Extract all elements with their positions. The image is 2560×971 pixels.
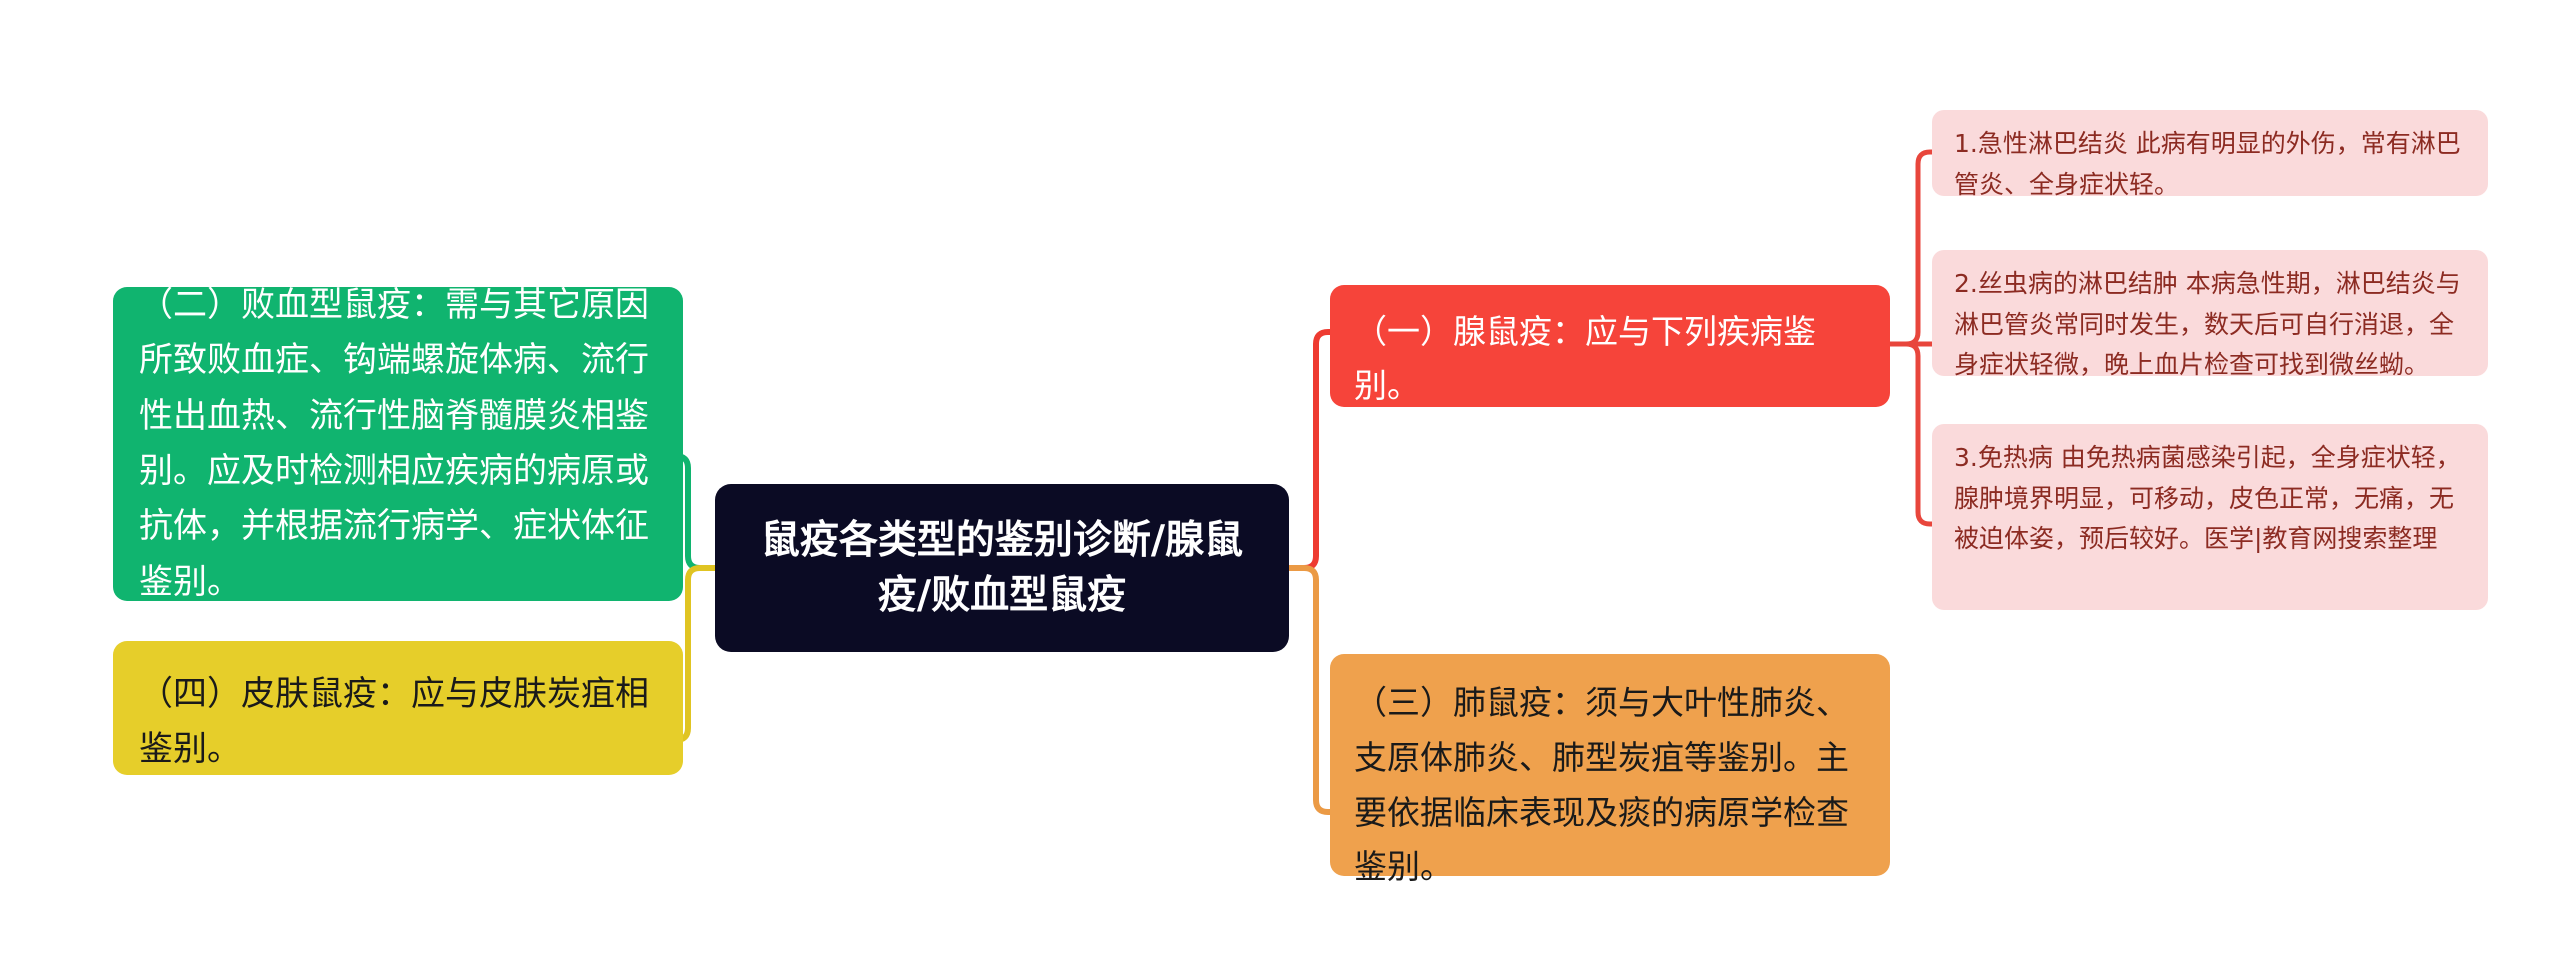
root-node-label: 鼠疫各类型的鉴别诊断/腺鼠疫/败血型鼠疫 bbox=[741, 513, 1263, 624]
root-node[interactable]: 鼠疫各类型的鉴别诊断/腺鼠疫/败血型鼠疫 bbox=[715, 484, 1289, 652]
mindmap-canvas: （二）败血型鼠疫：需与其它原因所致败血症、钩端螺旋体病、流行性出血热、流行性脑脊… bbox=[0, 0, 2560, 971]
branch-node-sepsis[interactable]: （二）败血型鼠疫：需与其它原因所致败血症、钩端螺旋体病、流行性出血热、流行性脑脊… bbox=[113, 287, 683, 601]
branch-node-bubonic[interactable]: （一）腺鼠疫：应与下列疾病鉴别。 bbox=[1330, 285, 1890, 407]
leaf-label-tularemia: 3.免热病 由免热病菌感染引起，全身症状轻，腺肿境界明显，可移动，皮色正常，无痛… bbox=[1954, 438, 2466, 560]
leaf-node-tularemia[interactable]: 3.免热病 由免热病菌感染引起，全身症状轻，腺肿境界明显，可移动，皮色正常，无痛… bbox=[1932, 424, 2488, 610]
leaf-node-lymphadenitis[interactable]: 1.急性淋巴结炎 此病有明显的外伤，常有淋巴管炎、全身症状轻。 bbox=[1932, 110, 2488, 196]
branch-node-pneumonic[interactable]: （三）肺鼠疫：须与大叶性肺炎、支原体肺炎、肺型炭疽等鉴别。主要依据临床表现及痰的… bbox=[1330, 654, 1890, 876]
branch-node-skin[interactable]: （四）皮肤鼠疫：应与皮肤炭疽相鉴别。 bbox=[113, 641, 683, 775]
leaf-label-filariasis: 2.丝虫病的淋巴结肿 本病急性期，淋巴结炎与淋巴管炎常同时发生，数天后可自行消退… bbox=[1954, 264, 2466, 386]
leaf-node-filariasis[interactable]: 2.丝虫病的淋巴结肿 本病急性期，淋巴结炎与淋巴管炎常同时发生，数天后可自行消退… bbox=[1932, 250, 2488, 376]
branch-label-sepsis: （二）败血型鼠疫：需与其它原因所致败血症、钩端螺旋体病、流行性出血热、流行性脑脊… bbox=[139, 278, 657, 610]
leaf-label-lymphadenitis: 1.急性淋巴结炎 此病有明显的外伤，常有淋巴管炎、全身症状轻。 bbox=[1954, 124, 2466, 205]
branch-label-pneumonic: （三）肺鼠疫：须与大叶性肺炎、支原体肺炎、肺型炭疽等鉴别。主要依据临床表现及痰的… bbox=[1354, 676, 1866, 895]
branch-label-bubonic: （一）腺鼠疫：应与下列疾病鉴别。 bbox=[1354, 305, 1866, 413]
branch-label-skin: （四）皮肤鼠疫：应与皮肤炭疽相鉴别。 bbox=[139, 667, 657, 778]
